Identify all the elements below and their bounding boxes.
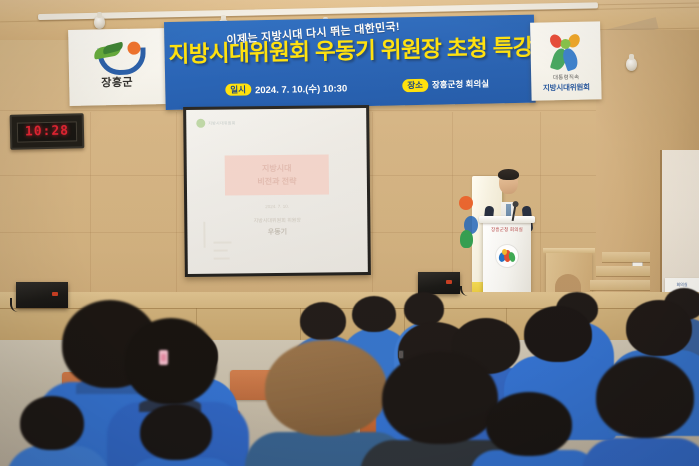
wall-seam [452, 112, 453, 292]
committee-logo: 대통령직속 지방시대위원회 [530, 21, 602, 100]
wall-seam [372, 112, 373, 292]
slide-decoration [214, 257, 230, 259]
slide-org: 지방시대위원회 위원장 [187, 216, 367, 225]
committee-name: 지방시대위원회 [543, 81, 590, 93]
hair-clip [159, 350, 168, 365]
spotlight-icon [626, 58, 637, 71]
flag-emblem-icon [459, 196, 473, 210]
slide-decoration [203, 222, 205, 248]
digital-wall-clock: 10:28 [10, 113, 85, 150]
speaker-hair [498, 169, 519, 180]
floor-monitor-center [418, 272, 460, 294]
podium-label: 장흥군청 회의실 [489, 227, 525, 233]
banner-place-chip: 장소 [402, 79, 428, 92]
flag-emblem-icon [460, 230, 473, 248]
slide-title-line1: 지방시대 [262, 163, 292, 174]
committee-emblem-icon [544, 29, 587, 72]
jangheung-logo-label: 장흥군 [101, 74, 133, 91]
committee-caption: 대통령직속 [553, 72, 579, 81]
banner-place-row: 장소 장흥군청 회의실 [402, 78, 489, 92]
banner-date-chip: 일시 [225, 83, 251, 96]
clock-display: 10:28 [25, 124, 69, 140]
banner-date-row: 일시 2024. 7. 10.(수) 10:30 [225, 80, 347, 96]
slide-title-line2: 비전과 전략 [257, 176, 296, 187]
banner-title: 지방시대위원회 우동기 위원장 초청 특강 [168, 30, 535, 69]
slide-title-box: 지방시대 비전과 전략 [225, 154, 329, 195]
jangheung-emblem-icon [91, 44, 142, 73]
jangheung-county-logo: 장흥군 [68, 28, 166, 106]
event-banner: 장흥군 이제는 지방시대 다시 뛰는 대한민국! 지방시대위원회 우동기 위원장… [68, 13, 600, 112]
slide-presenter-name: 우동기 [187, 226, 367, 238]
slide-date: 2024. 7. 10. [187, 203, 367, 210]
wall-seam [176, 112, 177, 292]
slide-logo-icon: 지방시대위원회 [196, 118, 235, 127]
projection-screen: 지방시대위원회 지방시대 비전과 전략 2024. 7. 10. 지방시대위원회… [183, 105, 371, 277]
lecture-hall-photo: 회의실 장흥군 이제는 지방시대 다시 뛰는 대한민국! 지방시대위원회 우동기… [0, 0, 699, 466]
eyeglasses-icon [398, 350, 404, 359]
wall-seam [540, 112, 541, 292]
floor-monitor-left [16, 282, 68, 308]
slide-decoration [214, 241, 232, 243]
slide-decoration [214, 250, 228, 252]
podium: 장흥군청 회의실 [483, 221, 531, 299]
speaker-head [499, 171, 518, 194]
podium-emblem-icon [496, 245, 518, 267]
banner-board: 이제는 지방시대 다시 뛰는 대한민국! 지방시대위원회 우동기 위원장 초청 … [164, 15, 536, 110]
podium-top [479, 216, 535, 223]
banner-date-value: 2024. 7. 10.(수) 10:30 [255, 80, 347, 96]
wall-seam [90, 112, 91, 292]
banner-place-value: 장흥군청 회의실 [432, 78, 489, 91]
